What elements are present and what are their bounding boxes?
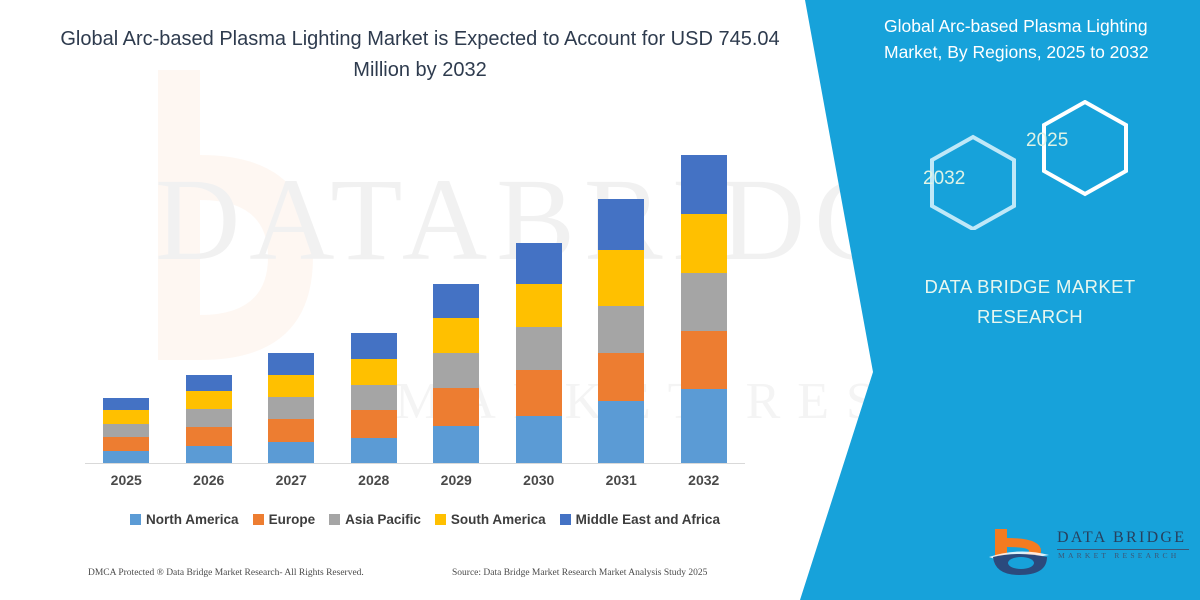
bar-segment [186, 427, 232, 446]
x-tick-2029: 2029 [421, 472, 491, 488]
bar-segment [598, 250, 644, 306]
bar-segment [681, 214, 727, 273]
hexagon-label-2032: 2032 [923, 168, 965, 190]
legend-swatch-icon [560, 514, 571, 525]
bar-2032 [681, 155, 727, 464]
legend-label: North America [146, 512, 239, 527]
bar-segment [516, 327, 562, 370]
bar-segment [186, 446, 232, 464]
legend-swatch-icon [329, 514, 340, 525]
legend-swatch-icon [435, 514, 446, 525]
legend-item[interactable]: Asia Pacific [329, 512, 421, 527]
bar-segment [351, 333, 397, 359]
legend-item[interactable]: Middle East and Africa [560, 512, 720, 527]
hexagon-outlines-icon [915, 100, 1165, 230]
bar-2030 [516, 243, 562, 464]
legend-swatch-icon [130, 514, 141, 525]
data-bridge-mark-icon [985, 525, 1053, 579]
legend-label: Asia Pacific [345, 512, 421, 527]
legend-swatch-icon [253, 514, 264, 525]
bar-segment [103, 410, 149, 424]
bar-segment [516, 243, 562, 284]
bar-segment [681, 331, 727, 389]
hexagon-group: 2032 2025 [915, 100, 1165, 230]
brand-line-1: DATA BRIDGE MARKET [924, 276, 1135, 297]
infographic-canvas: DATABRIDGE MARKET RESEARCH Global Arc-ba… [0, 0, 1200, 600]
footer-copyright: DMCA Protected ® Data Bridge Market Rese… [88, 568, 364, 578]
bar-segment [186, 375, 232, 391]
bar-segment [598, 401, 644, 464]
legend-label: South America [451, 512, 546, 527]
footer-source: Source: Data Bridge Market Research Mark… [452, 568, 707, 578]
bar-segment [681, 155, 727, 214]
legend-label: Europe [269, 512, 316, 527]
side-panel-content: Global Arc-based Plasma Lighting Market,… [860, 0, 1200, 600]
bar-2031 [598, 199, 644, 464]
bar-segment [433, 353, 479, 388]
bar-segment [598, 353, 644, 401]
bar-segment [351, 410, 397, 438]
legend-label: Middle East and Africa [576, 512, 720, 527]
bar-segment [186, 391, 232, 409]
legend-item[interactable]: South America [435, 512, 546, 527]
x-tick-2027: 2027 [256, 472, 326, 488]
bar-segment [516, 370, 562, 416]
bar-segment [433, 318, 479, 353]
x-tick-2032: 2032 [669, 472, 739, 488]
x-tick-2026: 2026 [174, 472, 244, 488]
x-tick-2028: 2028 [339, 472, 409, 488]
chart-title: Global Arc-based Plasma Lighting Market … [60, 24, 780, 86]
company-logo: DATA BRIDGE MARKET RESEARCH [985, 525, 1195, 581]
bar-segment [351, 438, 397, 464]
bar-segment [268, 419, 314, 442]
bar-segment [598, 306, 644, 353]
bar-2025 [103, 398, 149, 464]
bar-segment [516, 416, 562, 464]
bar-2028 [351, 333, 397, 464]
bar-segment [268, 442, 314, 464]
panel-title: Global Arc-based Plasma Lighting Market,… [884, 13, 1184, 65]
brand-line-2: RESEARCH [977, 306, 1083, 327]
logo-text-sub: MARKET RESEARCH [1058, 551, 1180, 560]
bar-segment [103, 437, 149, 451]
hexagon-label-2025: 2025 [1026, 130, 1068, 152]
bar-segment [268, 353, 314, 375]
x-axis-line [85, 463, 745, 464]
legend-item[interactable]: North America [130, 512, 239, 527]
bar-segment [433, 284, 479, 318]
chart-pane: Global Arc-based Plasma Lighting Market … [0, 0, 810, 600]
legend-item[interactable]: Europe [253, 512, 316, 527]
bar-segment [351, 385, 397, 410]
stacked-bar-plot [85, 120, 745, 464]
x-tick-2031: 2031 [586, 472, 656, 488]
logo-divider [1057, 549, 1189, 550]
chart-legend: North AmericaEuropeAsia PacificSouth Ame… [85, 512, 765, 527]
bar-segment [351, 359, 397, 385]
bar-segment [681, 389, 727, 464]
bar-segment [433, 426, 479, 464]
bar-segment [681, 273, 727, 331]
x-axis-tick-labels: 20252026202720282029203020312032 [85, 472, 745, 496]
logo-text-main: DATA BRIDGE [1057, 529, 1186, 547]
bar-segment [516, 284, 562, 327]
x-tick-2030: 2030 [504, 472, 574, 488]
x-tick-2025: 2025 [91, 472, 161, 488]
bar-2026 [186, 375, 232, 464]
bar-segment [433, 388, 479, 426]
bar-segment [268, 375, 314, 397]
brand-name: DATA BRIDGE MARKET RESEARCH [880, 272, 1180, 332]
bar-2027 [268, 353, 314, 464]
bar-segment [103, 398, 149, 410]
bar-segment [598, 199, 644, 250]
bar-2029 [433, 284, 479, 464]
bar-segment [186, 409, 232, 427]
bar-segment [268, 397, 314, 419]
bar-segment [103, 424, 149, 437]
